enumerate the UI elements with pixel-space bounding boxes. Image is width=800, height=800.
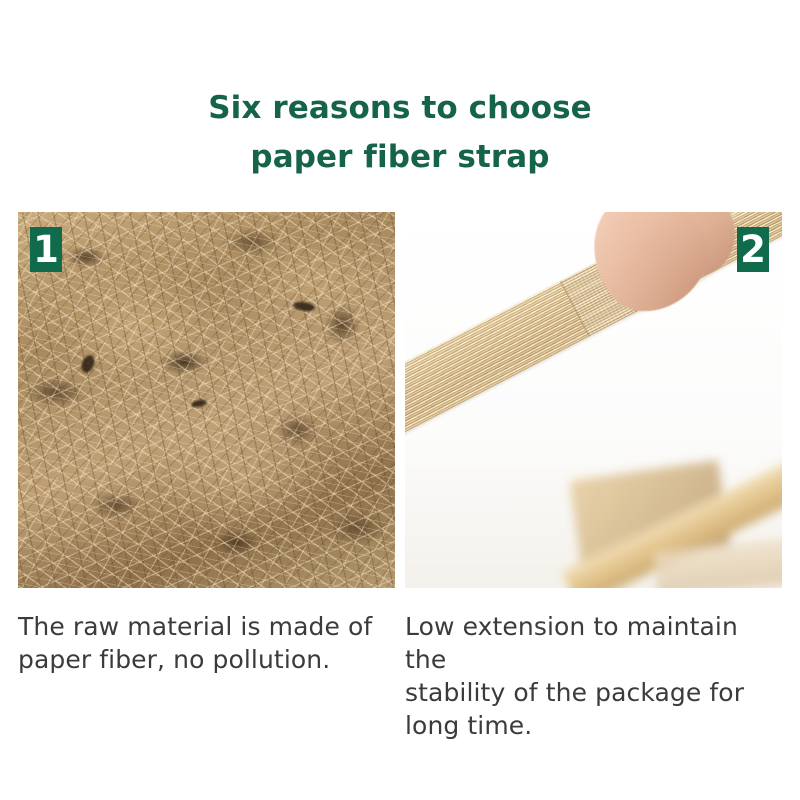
page-title: Six reasons to choose paper fiber strap	[0, 84, 800, 182]
paper-fiber-texture	[18, 212, 395, 588]
badge-number-2: 2	[737, 227, 769, 272]
reason-2-photo: 2	[405, 212, 782, 588]
reason-1-photo: 1	[18, 212, 395, 588]
reason-1-caption: The raw material is made of paper fiber,…	[18, 610, 386, 676]
reason-1-caption-line-1: The raw material is made of	[18, 612, 372, 641]
paper-fiber-strap	[405, 212, 782, 445]
badge-number-1: 1	[30, 227, 62, 272]
reason-2-caption-line-2: stability of the package for	[405, 678, 744, 707]
reason-2-caption-line-1: Low extension to maintain the	[405, 612, 738, 674]
reason-2-caption: Low extension to maintain the stability …	[405, 610, 777, 742]
reason-2-caption-line-3: long time.	[405, 711, 532, 740]
reason-card-1: 1 The raw material is made of paper fibe…	[18, 212, 395, 742]
reason-1-caption-line-2: paper fiber, no pollution.	[18, 645, 330, 674]
page-title-line-2: paper fiber strap	[0, 133, 800, 182]
page-title-line-1: Six reasons to choose	[0, 84, 800, 133]
reason-cards: 1 The raw material is made of paper fibe…	[18, 212, 786, 742]
strap-photo-scene	[405, 212, 782, 588]
reason-card-2: 2 Low extension to maintain the stabilit…	[405, 212, 782, 742]
